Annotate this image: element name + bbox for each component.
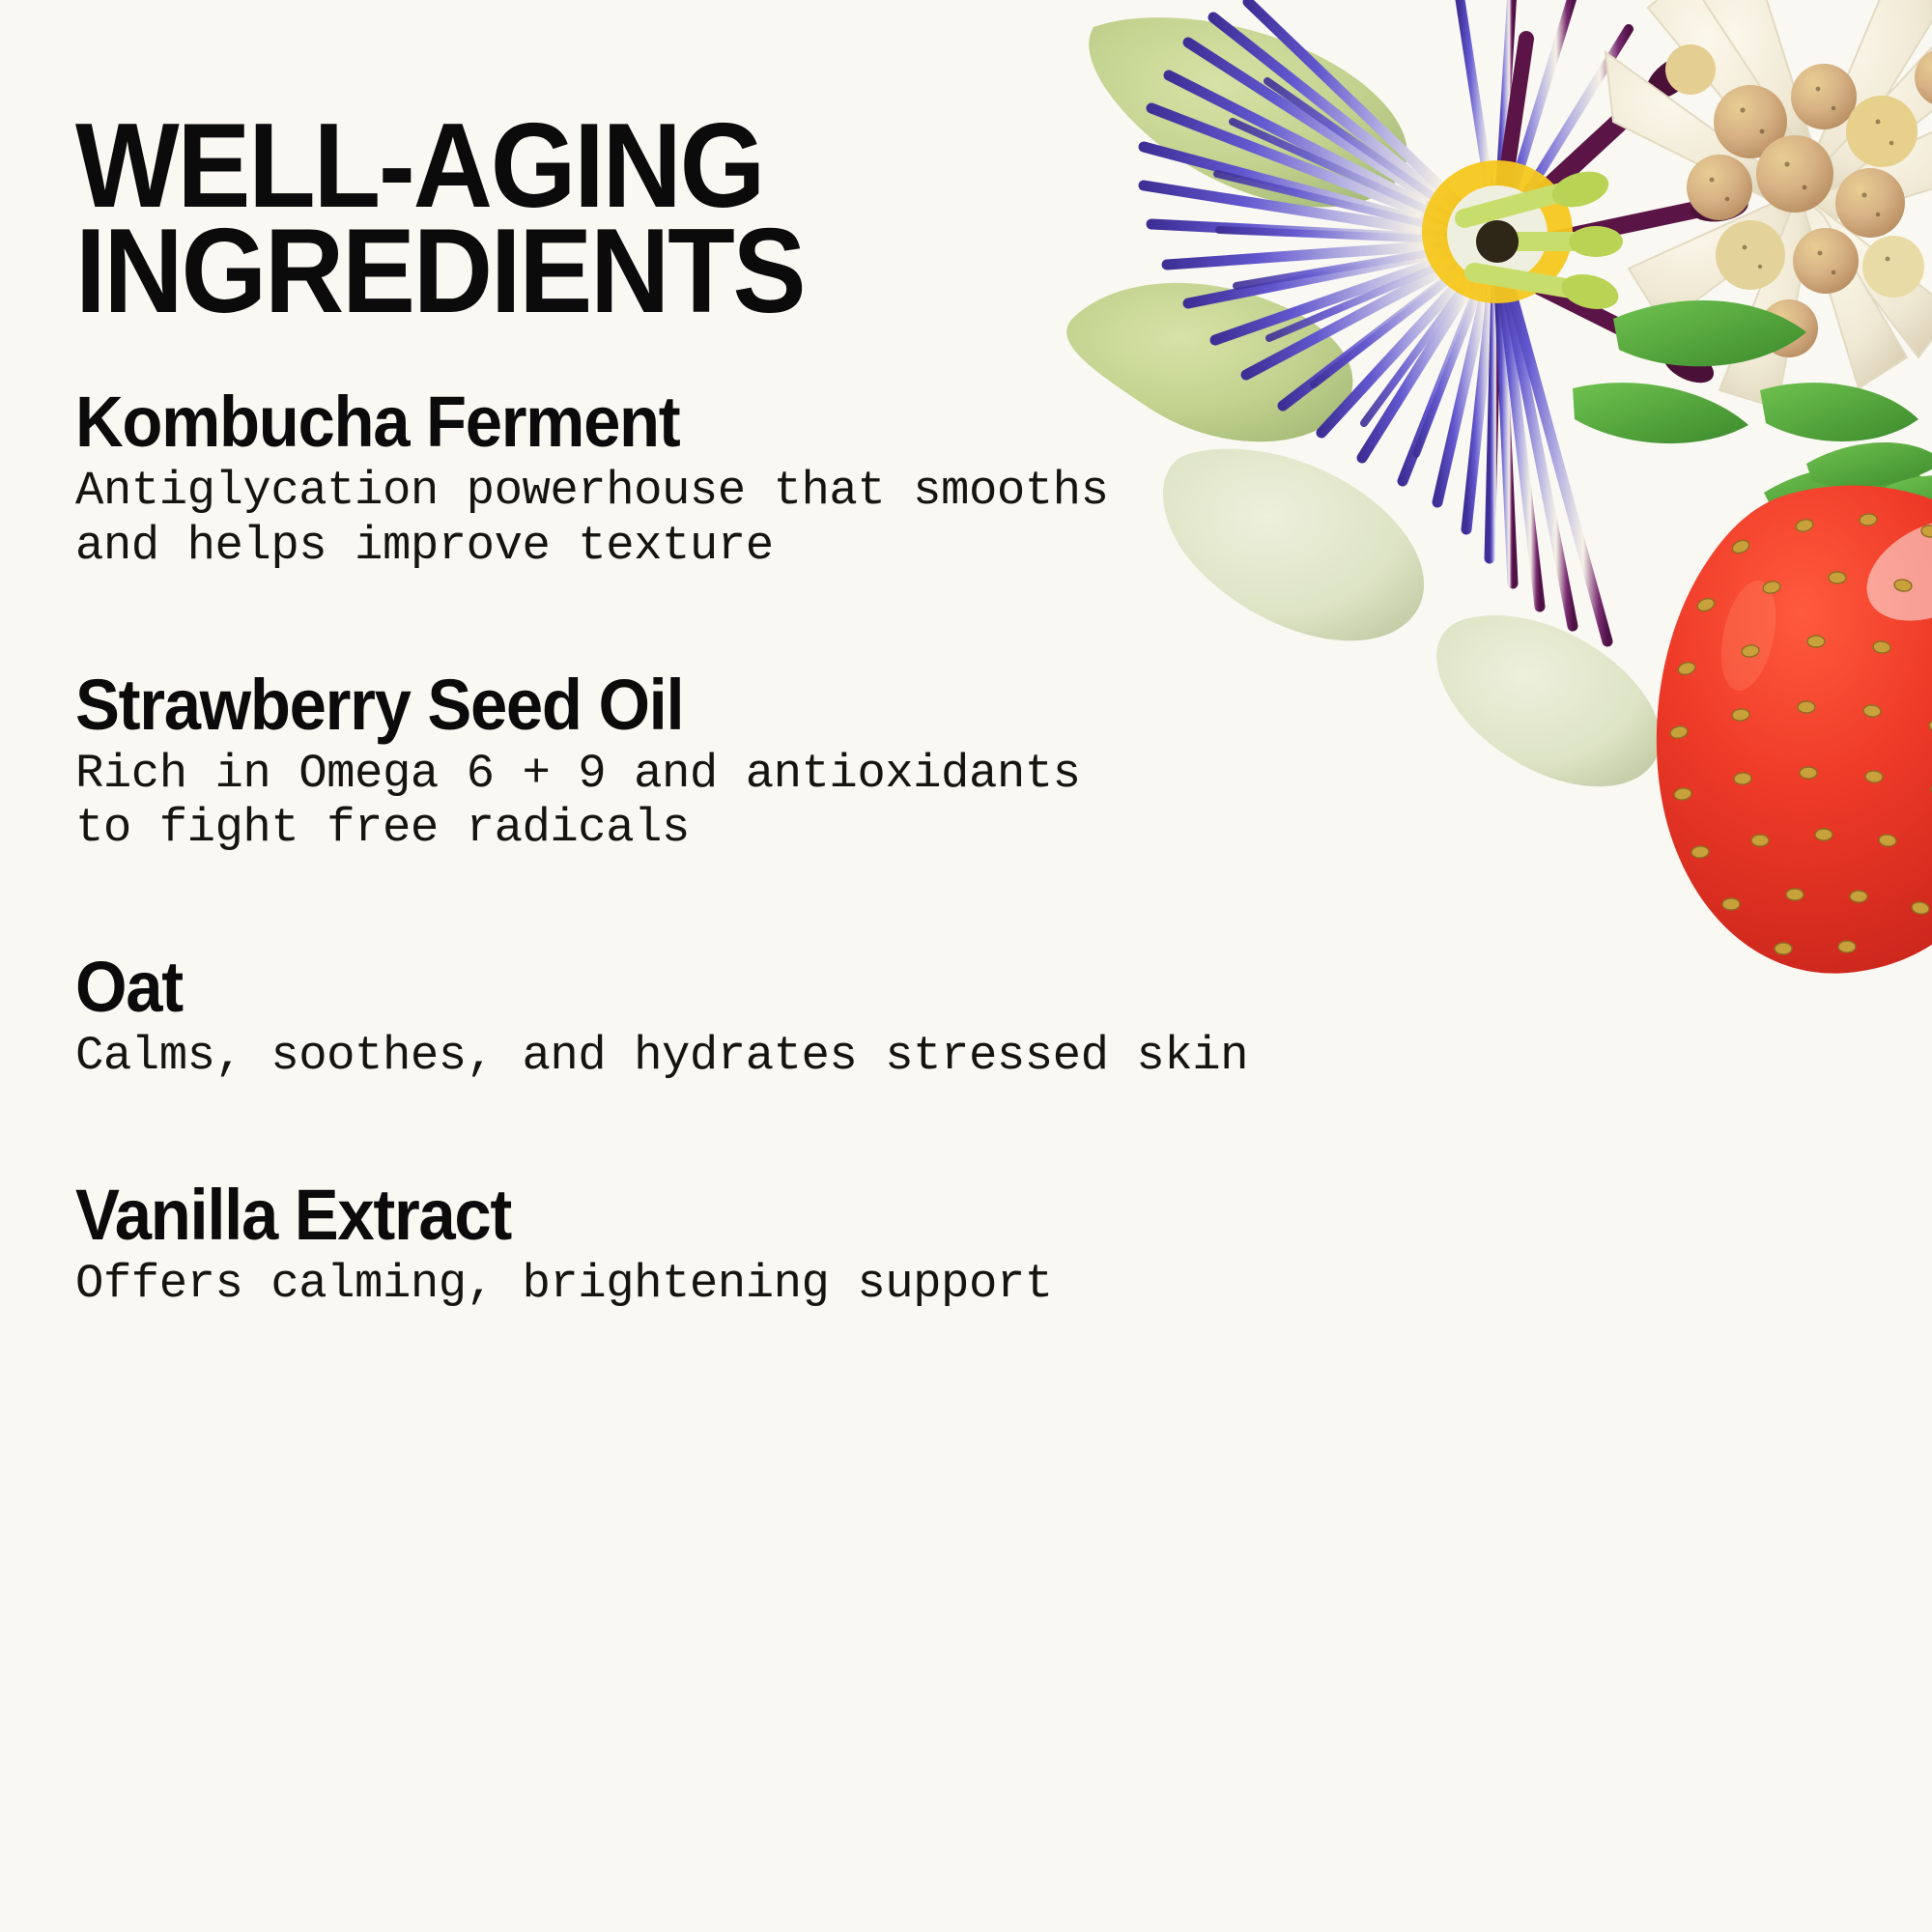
leaf-icon <box>1573 300 1918 443</box>
edelweiss-icon <box>1605 0 1932 408</box>
ingredient-list: Kombucha Ferment Antiglycation powerhous… <box>75 386 1379 1312</box>
ingredient-name: Strawberry Seed Oil <box>75 669 1289 741</box>
ingredient-item-oat: Oat Calms, soothes, and hydrates stresse… <box>75 952 1379 1084</box>
ingredient-description: Rich in Omega 6 + 9 and antioxidants to … <box>75 747 1379 857</box>
ingredient-description: Antiglycation powerhouse that smooths an… <box>75 464 1379 574</box>
page-title: WELL-AGING INGREDIENTS <box>75 114 804 325</box>
ingredient-name: Oat <box>75 952 1289 1023</box>
strawberry-icon <box>1657 442 1932 974</box>
ingredient-name: Kombucha Ferment <box>75 386 1289 458</box>
ingredient-item-vanilla-extract: Vanilla Extract Offers calming, brighten… <box>75 1179 1379 1312</box>
ingredient-item-kombucha-ferment: Kombucha Ferment Antiglycation powerhous… <box>75 386 1379 574</box>
ingredient-item-strawberry-seed-oil: Strawberry Seed Oil Rich in Omega 6 + 9 … <box>75 669 1379 857</box>
ingredients-card: WELL-AGING INGREDIENTS Kombucha Ferment … <box>0 0 1932 1932</box>
ingredient-description: Calms, soothes, and hydrates stressed sk… <box>75 1029 1379 1084</box>
ingredient-name: Vanilla Extract <box>75 1179 1289 1251</box>
ingredient-description: Offers calming, brightening support <box>75 1257 1379 1312</box>
